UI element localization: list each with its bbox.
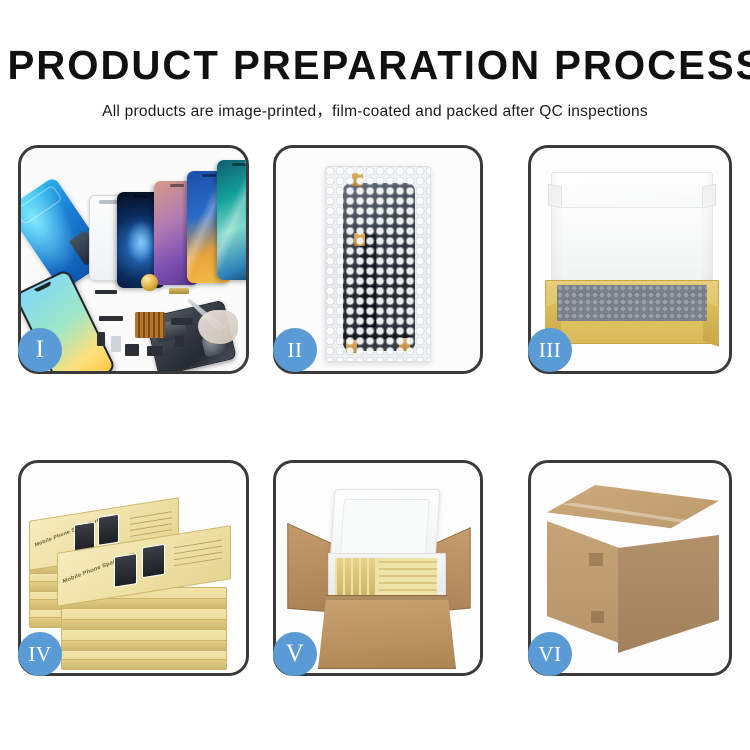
screw-part [175, 336, 184, 347]
hand [198, 310, 238, 344]
sim-tray [111, 336, 121, 352]
carton-right-face [618, 535, 719, 653]
step-badge-2: II [273, 328, 317, 372]
coil-component [141, 274, 158, 291]
phone-screen-4 [217, 160, 246, 280]
stacked-box [61, 629, 227, 651]
bubble-wrapped-contents [557, 285, 707, 321]
step-grid: Mobile Phone Spare Parts Mobile Pho [0, 143, 750, 683]
page-title: PRODUCT PREPARATION PROCESS [8, 45, 743, 86]
step-badge-4: IV [18, 632, 62, 676]
carton-tab [591, 611, 604, 623]
step-badge-1: I [18, 328, 62, 372]
gold-connector [169, 288, 189, 294]
box-thumbnail [114, 553, 137, 588]
step-badge-3: III [528, 328, 572, 372]
page-subtitle: All products are image-printed，film-coat… [0, 99, 750, 121]
kraft-tray [545, 280, 719, 344]
box-thumbnail [98, 514, 119, 546]
step-badge-5: V [273, 632, 317, 676]
box-stack: Mobile Phone Spare Parts Mobile Pho [27, 477, 246, 667]
step-badge-6: VI [528, 632, 572, 676]
product-preparation-infographic: PRODUCT PREPARATION PROCESS All products… [0, 0, 750, 750]
foam-lid-open [329, 489, 440, 563]
open-inner-box [545, 172, 719, 350]
button-part [97, 332, 105, 346]
speaker-part [125, 344, 139, 356]
box-thumbnail [142, 544, 165, 579]
carton-left-face [547, 521, 619, 643]
box-spec-text [174, 535, 222, 567]
chip-grid-component [135, 312, 165, 338]
tweezers-icon [188, 298, 240, 350]
stacked-box [61, 608, 227, 630]
lid-flap-left [548, 184, 562, 209]
lid-flap-right [702, 184, 716, 209]
bag-body [325, 166, 431, 362]
yellow-boxes-inside [335, 558, 437, 596]
bubble-wrap-bag [325, 166, 431, 362]
ribbon-cable [99, 316, 123, 321]
box-spec-text [130, 508, 172, 537]
open-carton [286, 483, 472, 657]
carton-tab [589, 553, 603, 566]
flex-cable [95, 290, 117, 294]
sealed-carton [547, 485, 719, 657]
bubble-texture [326, 167, 430, 361]
stacked-box [61, 650, 227, 670]
header: PRODUCT PREPARATION PROCESS All products… [0, 0, 750, 121]
vibrator-part [147, 346, 163, 356]
foam-lid [551, 172, 713, 290]
carton-front-wall [318, 595, 456, 669]
